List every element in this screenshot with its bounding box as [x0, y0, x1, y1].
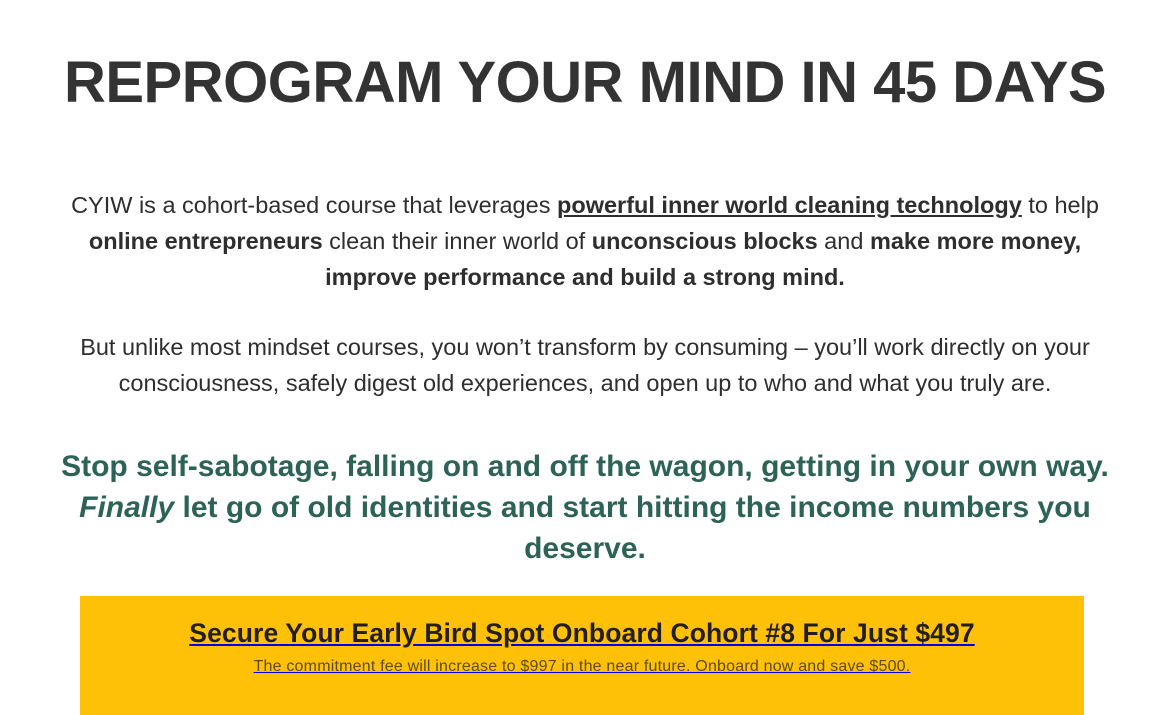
intro-emphasis-technology: powerful inner world cleaning technology — [557, 192, 1022, 218]
intro-text-part-1: CYIW is a cohort-based course that lever… — [71, 192, 557, 218]
benefit-text-part-1: Stop self-sabotage, falling on and off t… — [61, 450, 1109, 483]
cta-subtitle: The commitment fee will increase to $997… — [104, 656, 1060, 678]
benefit-statement: Stop self-sabotage, falling on and off t… — [35, 446, 1135, 569]
secure-spot-cta-button[interactable]: Secure Your Early Bird Spot Onboard Coho… — [80, 596, 1084, 715]
intro-text-part-4: and — [818, 228, 870, 254]
intro-text-part-2: to help — [1022, 192, 1099, 218]
intro-bold-blocks: unconscious blocks — [592, 228, 818, 254]
cta-title: Secure Your Early Bird Spot Onboard Coho… — [104, 616, 1060, 650]
page-title: REPROGRAM YOUR MIND IN 45 DAYS — [0, 48, 1170, 118]
landing-page-section: REPROGRAM YOUR MIND IN 45 DAYS CYIW is a… — [0, 0, 1170, 715]
intro-bold-audience: online entrepreneurs — [89, 228, 323, 254]
intro-text-part-3: clean their inner world of — [323, 228, 592, 254]
benefit-italic-finally: Finally — [79, 491, 174, 524]
intro-paragraph: CYIW is a cohort-based course that lever… — [40, 187, 1130, 295]
differentiator-paragraph: But unlike most mindset courses, you won… — [30, 329, 1140, 401]
benefit-text-part-2: let go of old identities and start hitti… — [174, 491, 1091, 565]
